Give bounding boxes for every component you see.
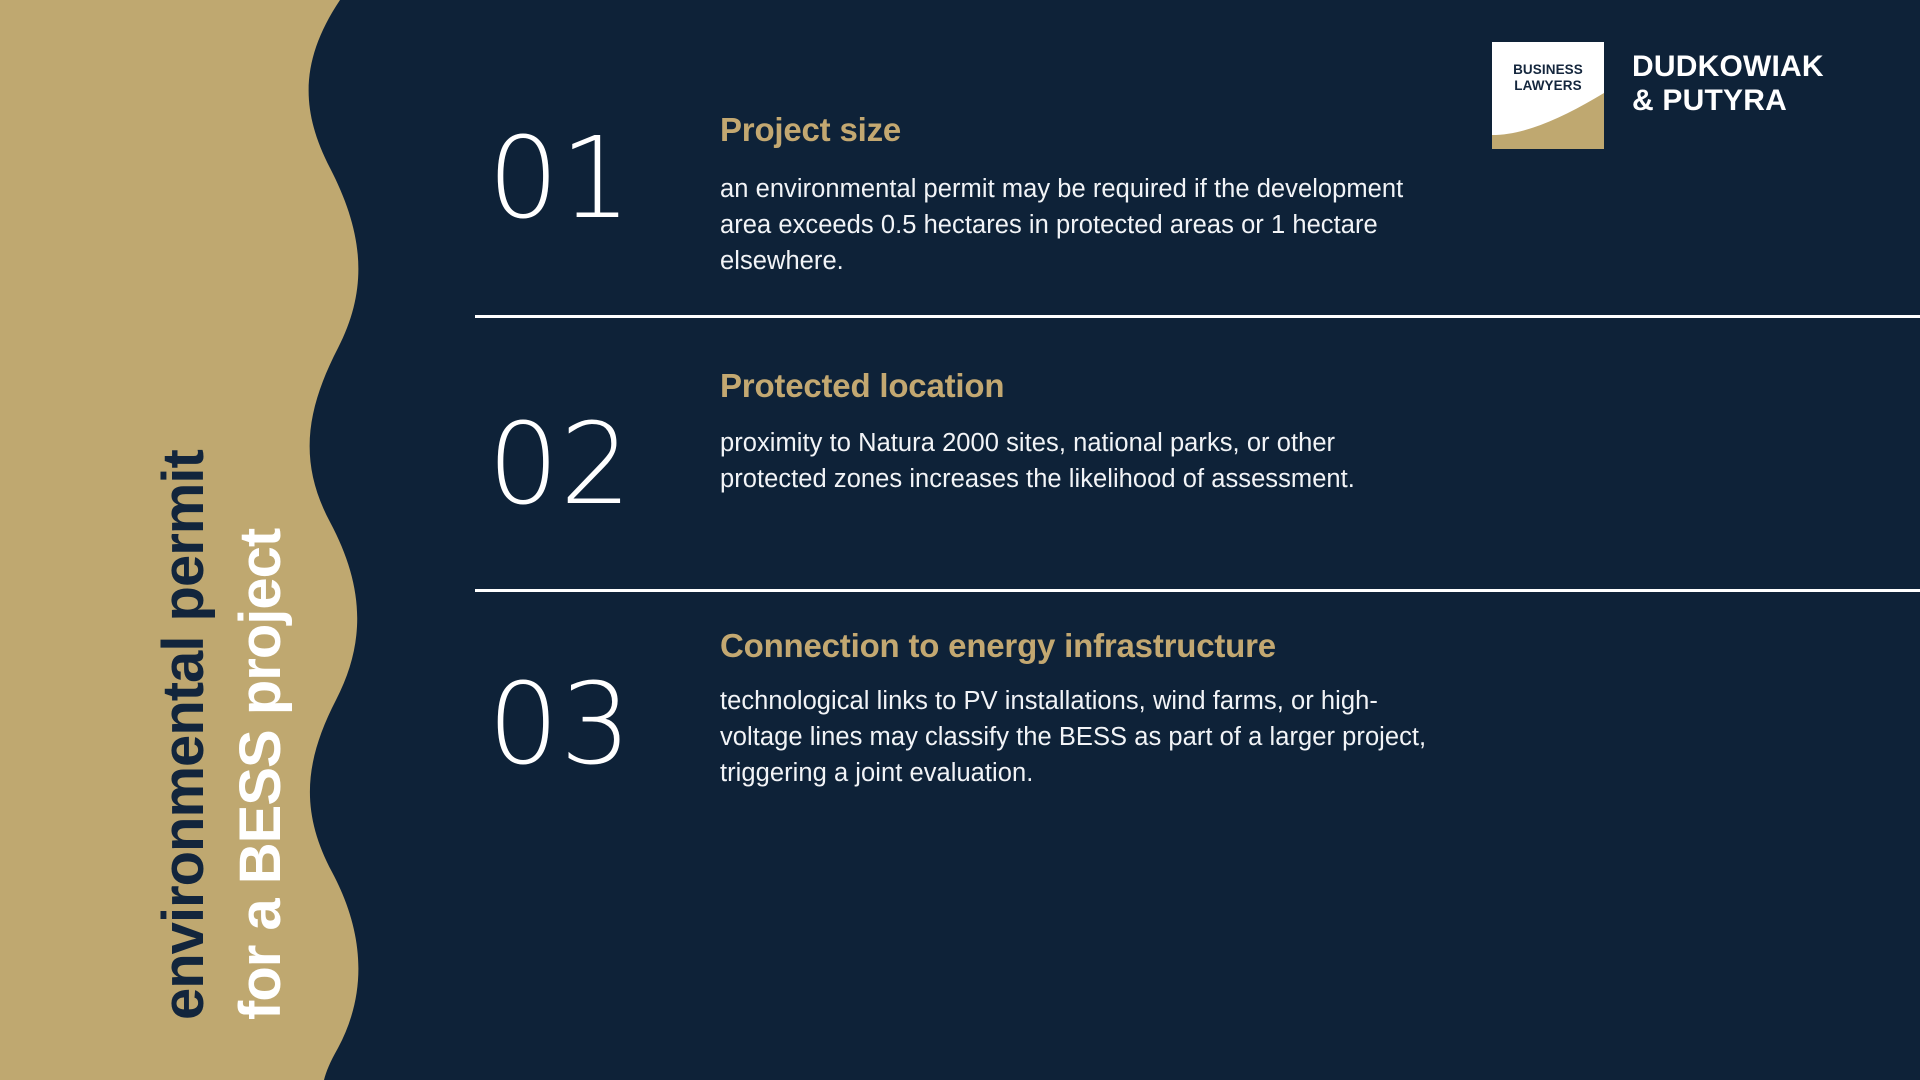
section-text-02: proximity to Natura 2000 sites, national…	[720, 425, 1430, 497]
content-column: 01 Project size an environmental permit …	[440, 0, 1920, 1080]
logo-gold-curve-icon	[1492, 89, 1604, 149]
logo-wordmark: DUDKOWIAK & PUTYRA	[1632, 42, 1824, 117]
section-body-01: Project size an environmental permit may…	[680, 112, 1470, 280]
logo-wordmark-line-1: DUDKOWIAK	[1632, 50, 1824, 84]
section-text-01: an environmental permit may be required …	[720, 171, 1430, 280]
section-heading-03: Connection to energy infrastructure	[720, 628, 1450, 665]
logo-mark-icon: BUSINESS LAWYERS	[1492, 42, 1604, 149]
brand-logo[interactable]: BUSINESS LAWYERS DUDKOWIAK & PUTYRA	[1492, 42, 1824, 149]
section-heading-01: Project size	[720, 112, 1430, 149]
section-number-03: 03	[440, 628, 680, 780]
section-body-03: Connection to energy infrastructure tech…	[680, 628, 1490, 792]
slide-canvas: environmental permit for a BESS project …	[0, 0, 1920, 1080]
left-gold-panel	[0, 0, 440, 1080]
section-heading-02: Protected location	[720, 368, 1430, 405]
logo-mark-line-2: LAWYERS	[1514, 78, 1581, 93]
section-number-02: 02	[440, 368, 680, 520]
section-body-02: Protected location proximity to Natura 2…	[680, 368, 1470, 497]
logo-mark-text: BUSINESS LAWYERS	[1492, 62, 1604, 95]
section-text-03: technological links to PV installations,…	[720, 683, 1450, 792]
section-number-01: 01	[440, 112, 680, 234]
list-item: 02 Protected location proximity to Natur…	[440, 368, 1920, 520]
logo-mark-line-1: BUSINESS	[1513, 62, 1583, 77]
list-item: 03 Connection to energy infrastructure t…	[440, 628, 1920, 792]
wavy-edge-shape	[0, 0, 440, 1080]
logo-wordmark-line-2: & PUTYRA	[1632, 84, 1824, 118]
